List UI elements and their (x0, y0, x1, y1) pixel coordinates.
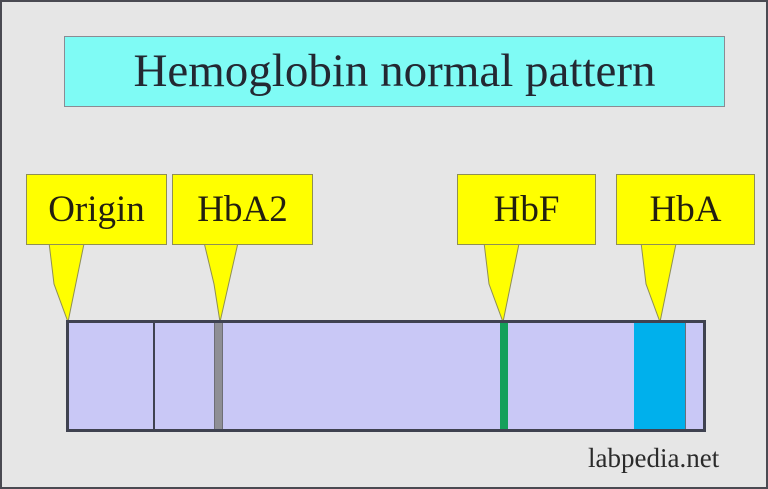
hemoglobin-electrophoresis-figure: Hemoglobin normal pattern Origin HbA2 Hb… (0, 0, 768, 489)
page-title: Hemoglobin normal pattern (133, 48, 655, 95)
callout-hba-label: HbA (650, 191, 722, 228)
gel-strip[interactable] (66, 320, 706, 432)
callout-hba2-label: HbA2 (197, 191, 287, 228)
callout-hba2: HbA2 (172, 174, 313, 245)
callout-origin-box[interactable]: Origin (26, 174, 167, 245)
callout-origin: Origin (26, 174, 167, 245)
callout-hbf-label: HbF (494, 191, 560, 228)
callout-hbf-box[interactable]: HbF (457, 174, 596, 245)
callout-origin-label: Origin (48, 191, 145, 228)
callout-hbf: HbF (457, 174, 596, 245)
gel-band-hba2 (214, 323, 223, 429)
gel-band-hba (634, 323, 686, 429)
title-banner: Hemoglobin normal pattern (64, 36, 725, 107)
callout-hba: HbA (616, 174, 755, 245)
footer-credit: labpedia.net (588, 445, 719, 472)
callout-hba2-box[interactable]: HbA2 (172, 174, 313, 245)
gel-band-hbf (500, 323, 508, 429)
callout-hba-box[interactable]: HbA (616, 174, 755, 245)
gel-origin-line (153, 323, 155, 429)
gel-strip-inner (69, 323, 703, 429)
